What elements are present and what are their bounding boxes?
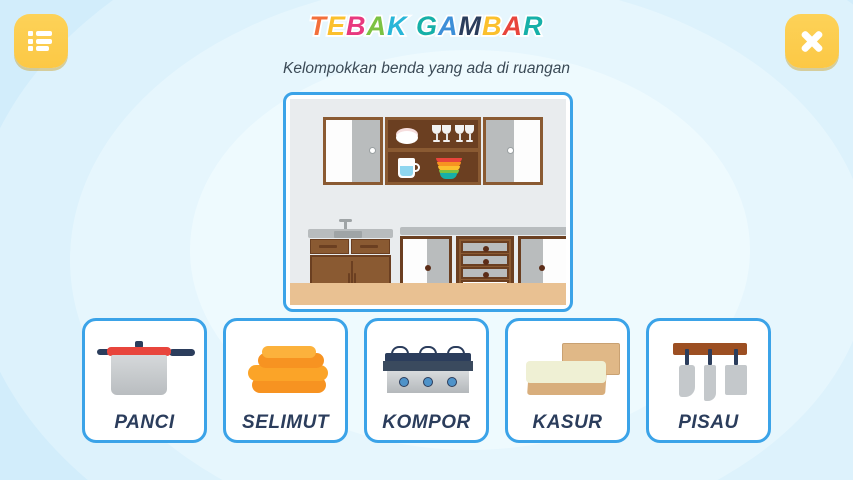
title-letter: B <box>346 13 367 40</box>
kitchen-scene <box>290 99 566 305</box>
bed-icon <box>508 329 627 407</box>
answer-card-pisau[interactable]: PISAU <box>646 318 771 443</box>
title-letter <box>407 13 416 40</box>
answer-card-list: PANCI SELIMUT KOMPOR KASUR <box>0 318 853 448</box>
pitcher-icon <box>398 156 420 178</box>
answer-card-kompor[interactable]: KOMPOR <box>364 318 489 443</box>
blanket-icon <box>226 329 345 407</box>
answer-card-panci[interactable]: PANCI <box>82 318 207 443</box>
title-letter: R <box>523 13 544 40</box>
title-letter: T <box>309 13 327 40</box>
answer-card-kasur[interactable]: KASUR <box>505 318 630 443</box>
header: TEBAK GAMBAR Kelompokkan benda yang ada … <box>0 0 853 92</box>
title-letter: A <box>503 13 524 40</box>
title-letter: B <box>482 13 503 40</box>
bowls-icon <box>436 158 462 178</box>
title-letter: E <box>327 13 346 40</box>
answer-card-label: PISAU <box>649 412 768 434</box>
title-letter: G <box>416 13 438 40</box>
instruction-text: Kelompokkan benda yang ada di ruangan <box>0 60 853 78</box>
answer-card-label: KOMPOR <box>367 412 486 434</box>
pot-icon <box>85 329 204 407</box>
knife-icon <box>649 329 768 407</box>
title-letter: A <box>366 13 387 40</box>
title-letter: K <box>387 13 408 40</box>
floor <box>290 283 566 305</box>
upper-cabinet-left <box>323 117 383 185</box>
answer-card-label: PANCI <box>85 412 204 434</box>
page-title: TEBAK GAMBAR <box>0 13 853 40</box>
upper-cabinet-right <box>483 117 543 185</box>
stove-icon <box>367 329 486 407</box>
answer-card-selimut[interactable]: SELIMUT <box>223 318 348 443</box>
answer-card-label: SELIMUT <box>226 412 345 434</box>
scene-frame <box>283 92 573 312</box>
title-letter: M <box>459 13 483 40</box>
title-letter: A <box>438 13 459 40</box>
open-shelf <box>385 117 481 185</box>
answer-card-label: KASUR <box>508 412 627 434</box>
